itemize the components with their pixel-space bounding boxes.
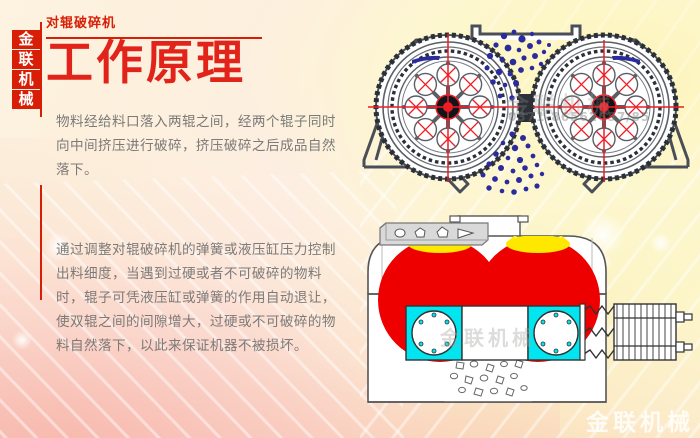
paragraph-working-principle: 物料经给料口落入两辊之间，经两个辊子同时向中间挤压进行破碎，挤压破碎之后成品自然…: [56, 110, 338, 182]
header-vertical-rule: [40, 22, 42, 117]
logo-char-4: 械: [12, 90, 40, 109]
logo-char-3: 机: [12, 70, 40, 89]
glow-spark-5: [12, 330, 32, 350]
poster-canvas: 金 联 机 械 对辊破碎机 工作原理 物料经给料口落入两辊之间，经两个辊子同时向…: [0, 0, 700, 438]
logo-char-1: 金: [12, 30, 40, 49]
bearing-housing-left: [406, 306, 462, 360]
header-block: 对辊破碎机: [46, 16, 116, 32]
logo-char-2: 联: [12, 50, 40, 69]
gap-adjust-block: [462, 306, 528, 360]
header-subtitle: 对辊破碎机: [46, 16, 116, 32]
material-chute-icon: [378, 222, 490, 248]
bearing-housing-right: [528, 306, 584, 360]
hydraulic-cylinder-block: [614, 304, 692, 360]
brand-logo: 金 联 机 械: [12, 30, 40, 109]
crusher-cross-section-diagram: [356, 12, 696, 202]
paragraph-adjustment-protection: 通过调整对辊破碎机的弹簧或液压缸压力控制出料细度，当遇到过硬或者不可破碎的物料时…: [56, 238, 344, 358]
paragraph2-vertical-rule: [40, 185, 42, 300]
page-title: 工作原理: [46, 38, 246, 90]
